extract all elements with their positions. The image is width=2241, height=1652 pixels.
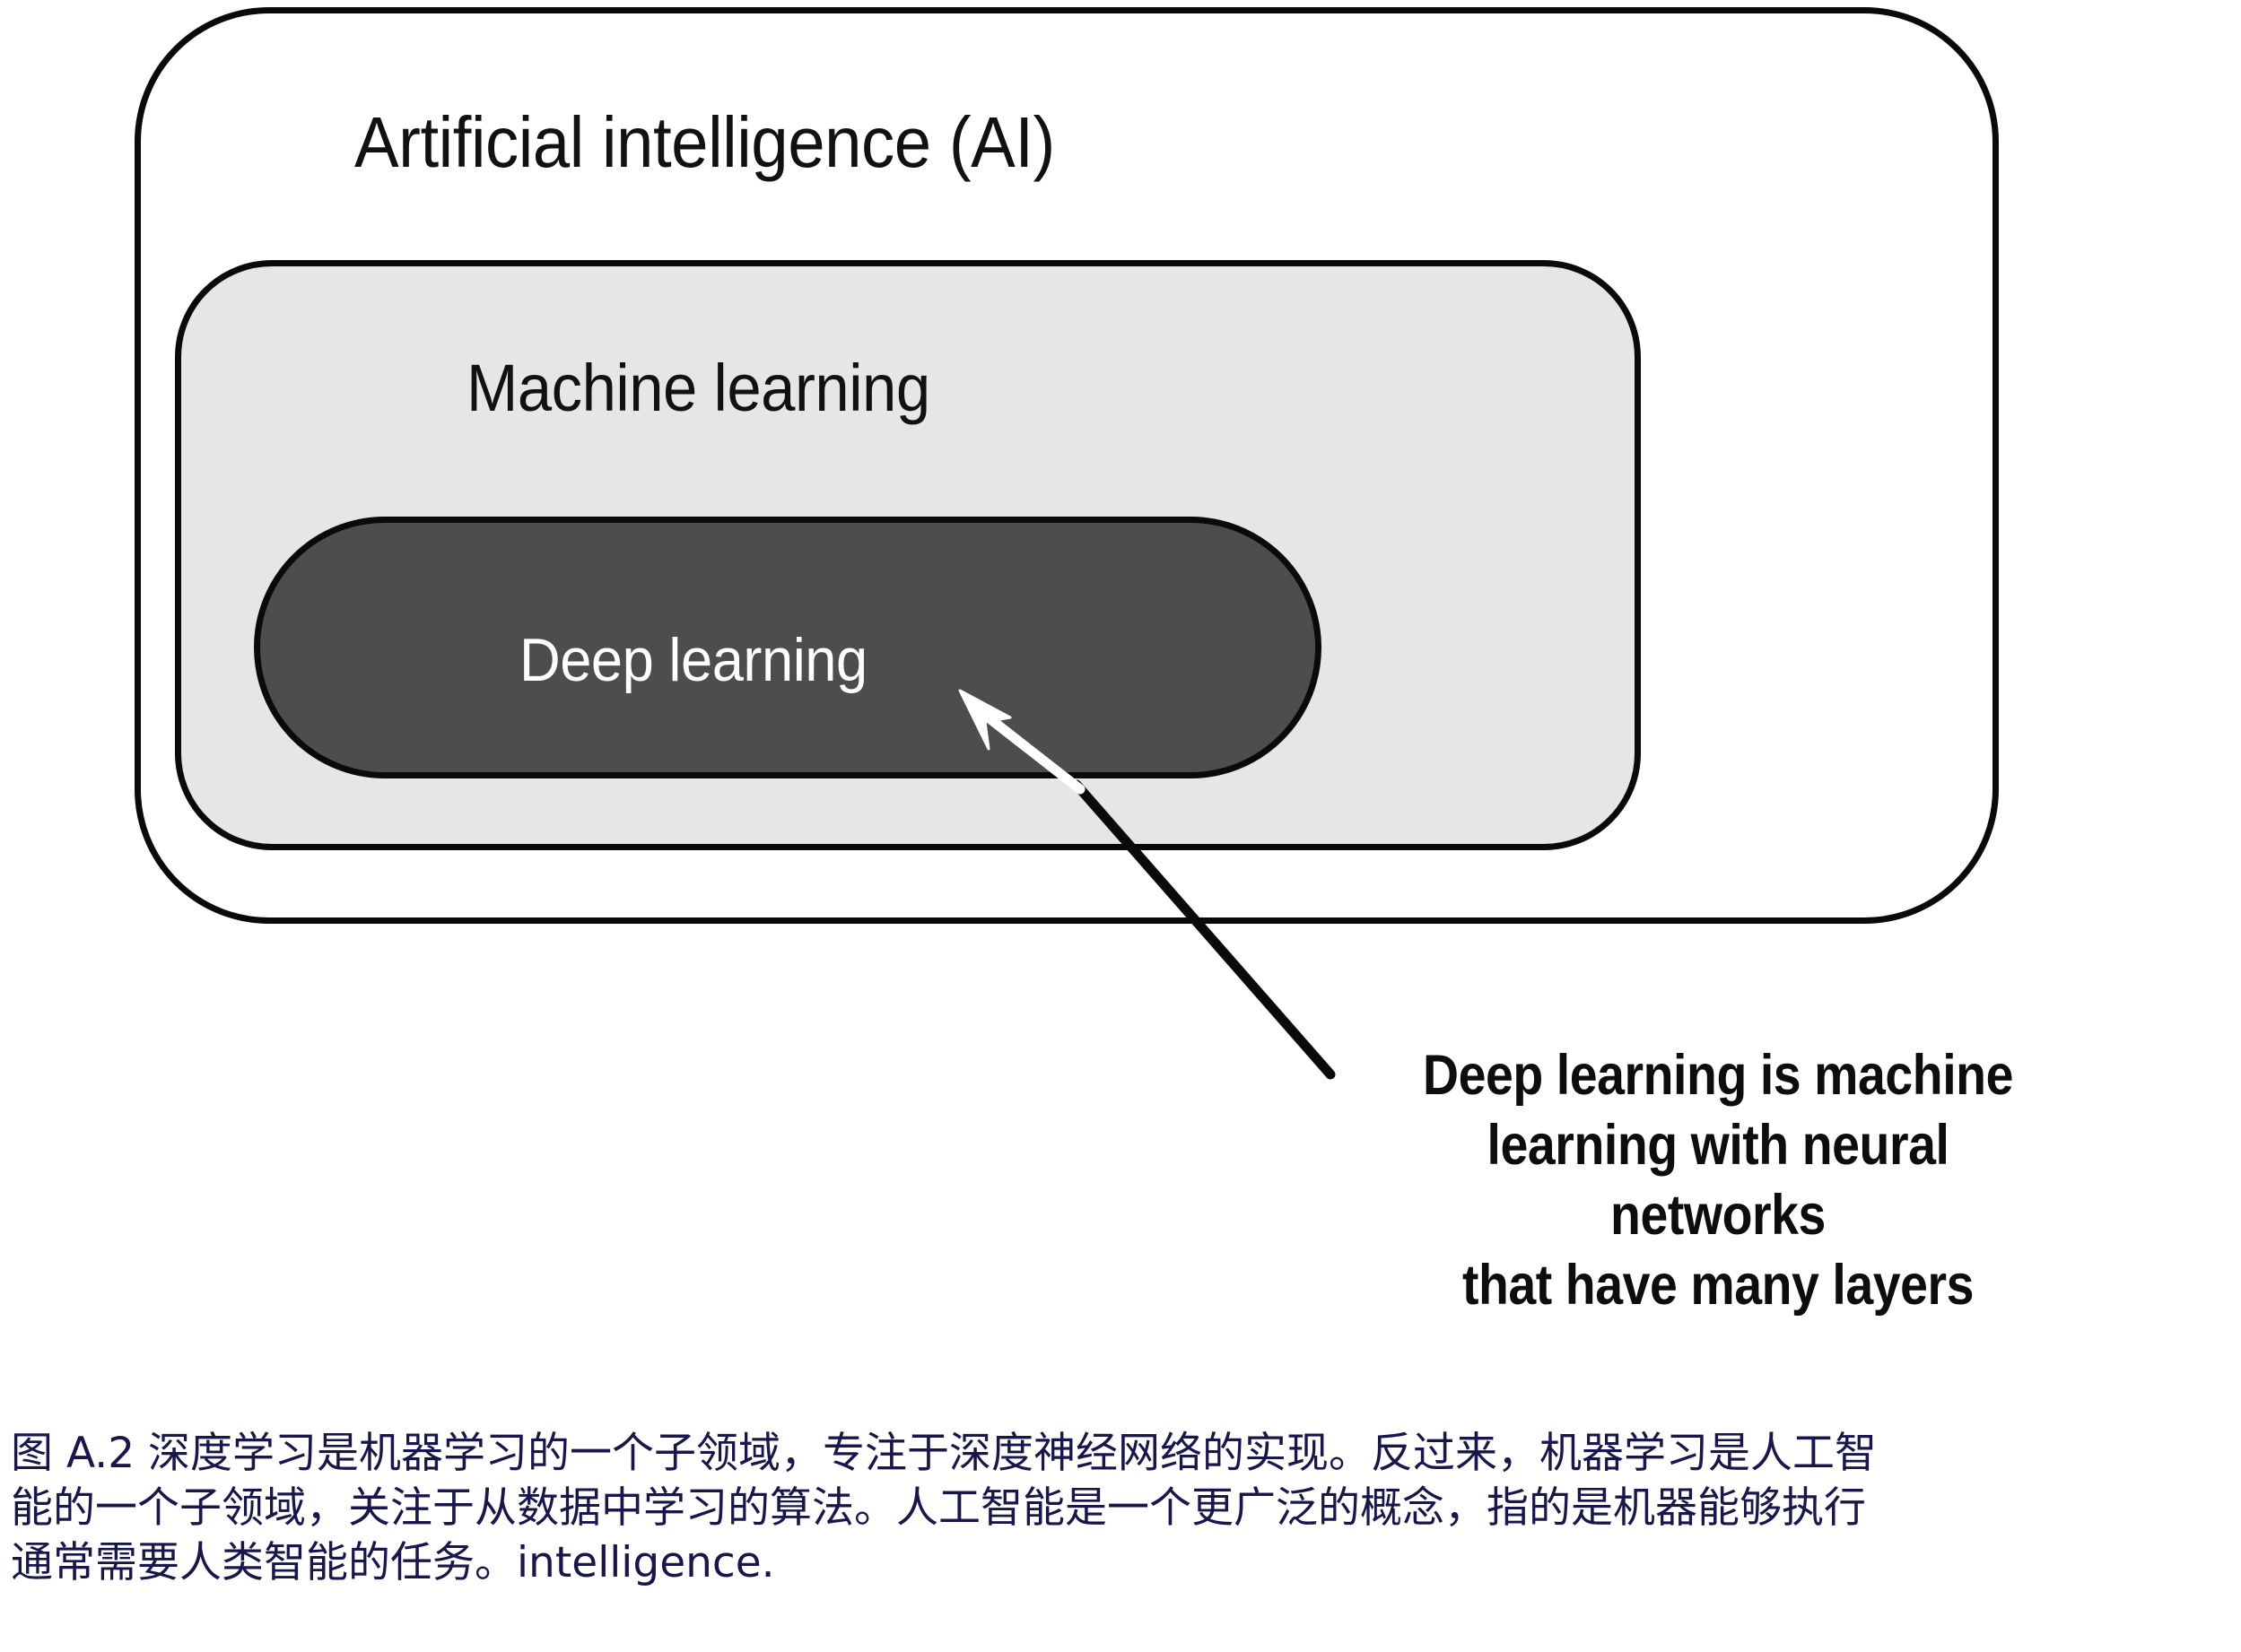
callout-line-2: learning with neural networks (1391, 1110, 2045, 1250)
callout-line-1: Deep learning is machine (1391, 1040, 2045, 1110)
caption-line-2: 能的一个子领域，关注于从数据中学习的算法。人工智能是一个更广泛的概念，指的是机器… (11, 1481, 2236, 1535)
venn-nesting-diagram: Artificial intelligence (AI) Machine lea… (0, 0, 2241, 1372)
deep-learning-box: Deep learning (254, 517, 1321, 778)
machine-learning-label: Machine learning (467, 350, 930, 426)
artificial-intelligence-label: Artificial intelligence (AI) (354, 101, 1055, 184)
caption-line-1: 图 A.2 深度学习是机器学习的一个子领域，专注于深度神经网络的实现。反过来，机… (11, 1426, 2236, 1481)
deep-learning-label: Deep learning (519, 625, 868, 695)
figure-caption: 图 A.2 深度学习是机器学习的一个子领域，专注于深度神经网络的实现。反过来，机… (11, 1426, 2236, 1590)
callout-line-3: that have many layers (1391, 1250, 2045, 1320)
caption-line-3: 通常需要人类智能的任务。intelligence. (11, 1535, 2236, 1590)
callout-annotation: Deep learning is machine learning with n… (1346, 1040, 2090, 1320)
